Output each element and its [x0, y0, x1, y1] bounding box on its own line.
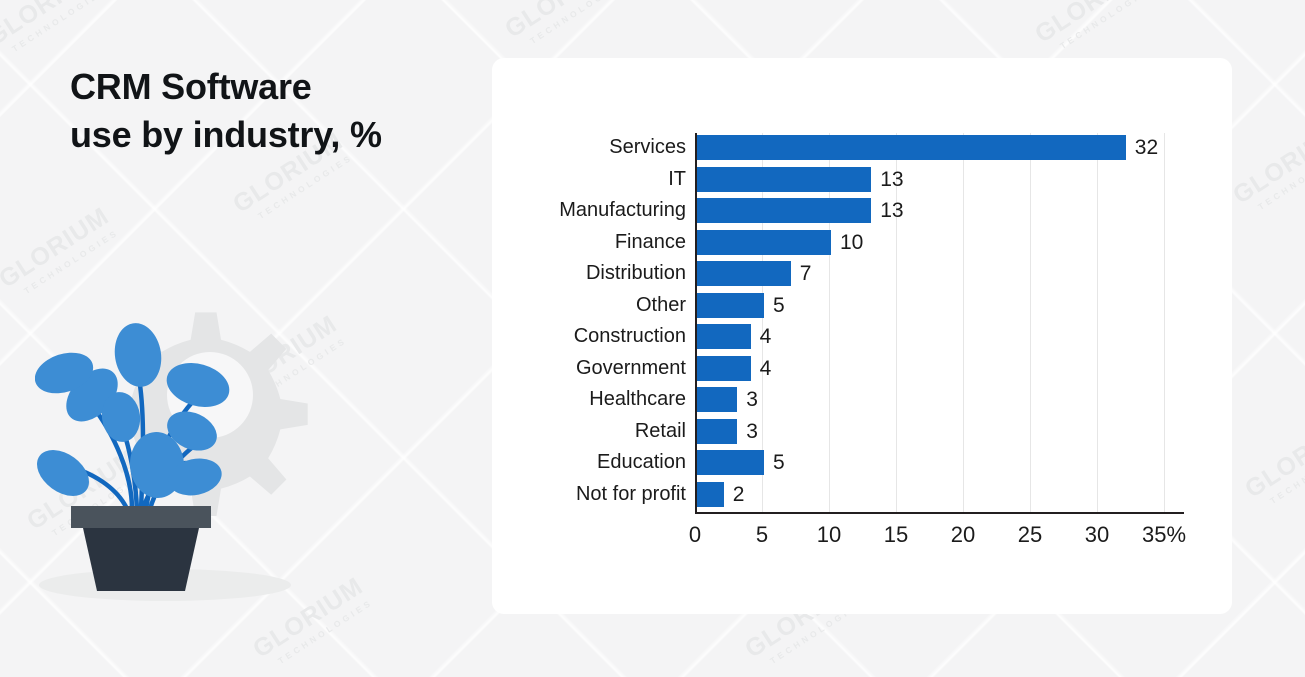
bar[interactable] [697, 198, 871, 223]
watermark-sub-text: TECHNOLOGIES [256, 152, 355, 221]
bar[interactable] [697, 450, 764, 475]
category-label: Distribution [490, 259, 686, 289]
bar-row[interactable]: 32 [697, 133, 1184, 163]
x-tick-label: 25 [1018, 522, 1042, 548]
bar-row[interactable]: 3 [697, 385, 1184, 415]
bar[interactable] [697, 293, 764, 318]
watermark-sub-text: TECHNOLOGIES [528, 0, 627, 46]
category-label: IT [490, 165, 686, 195]
watermark: GLORIUM TECHNOLOGIES [1240, 412, 1305, 514]
bar-row[interactable]: 13 [697, 196, 1184, 226]
watermark-main-text: GLORIUM [1240, 412, 1305, 505]
bar[interactable] [697, 135, 1126, 160]
watermark-main-text: GLORIUM [0, 202, 115, 295]
x-tick-label: 10 [817, 522, 841, 548]
bar-value-label: 4 [760, 358, 772, 379]
category-label: Other [490, 291, 686, 321]
bar-value-label: 4 [760, 326, 772, 347]
watermark-main-text: GLORIUM [0, 0, 103, 52]
x-axis-tick-labels: 05101520253035% [695, 522, 1184, 562]
bar-value-label: 7 [800, 263, 812, 284]
category-label: Government [490, 354, 686, 384]
watermark: GLORIUM TECHNOLOGIES [0, 0, 109, 62]
category-label: Finance [490, 228, 686, 258]
watermark-sub-text: TECHNOLOGIES [10, 0, 109, 54]
x-tick-label: 5 [756, 522, 768, 548]
watermark-main-text: GLORIUM [1030, 0, 1151, 49]
pot-body [83, 528, 199, 591]
bar-value-label: 5 [773, 295, 785, 316]
bar-value-label: 10 [840, 232, 863, 253]
bar-value-label: 13 [880, 200, 903, 221]
potted-plant-illustration [35, 285, 365, 620]
bar-value-label: 3 [746, 389, 758, 410]
x-tick-label: 15 [884, 522, 908, 548]
bar-row[interactable]: 7 [697, 259, 1184, 289]
bar-value-label: 3 [746, 421, 758, 442]
page-title-line-1: CRM Software [70, 63, 470, 111]
bar-value-label: 13 [880, 169, 903, 190]
bar-value-label: 32 [1135, 137, 1158, 158]
watermark-main-text: GLORIUM [500, 0, 621, 44]
bar-row[interactable]: 4 [697, 322, 1184, 352]
category-label: Not for profit [490, 480, 686, 510]
bar-row[interactable]: 13 [697, 165, 1184, 195]
x-tick-label: 0 [689, 522, 701, 548]
y-axis-category-labels: ServicesITManufacturingFinanceDistributi… [490, 133, 686, 511]
bar-value-label: 5 [773, 452, 785, 473]
watermark: GLORIUM TECHNOLOGIES [1030, 0, 1157, 59]
watermark: GLORIUM TECHNOLOGIES [1228, 118, 1305, 220]
bar-row[interactable]: 5 [697, 448, 1184, 478]
bar-row[interactable]: 3 [697, 417, 1184, 447]
category-label: Services [490, 133, 686, 163]
bar-chart: ServicesITManufacturingFinanceDistributi… [695, 133, 1184, 588]
x-tick-label: 35% [1142, 522, 1186, 548]
watermark: GLORIUM TECHNOLOGIES [500, 0, 627, 54]
watermark-sub-text: TECHNOLOGIES [1256, 143, 1305, 212]
x-tick-label: 30 [1085, 522, 1109, 548]
category-label: Retail [490, 417, 686, 447]
bar[interactable] [697, 230, 831, 255]
x-axis-line [695, 512, 1184, 514]
bar-series: 3213131075443352 [697, 133, 1184, 511]
watermark-main-text: GLORIUM [1228, 118, 1305, 211]
bar[interactable] [697, 167, 871, 192]
bar-value-label: 2 [733, 484, 745, 505]
category-label: Manufacturing [490, 196, 686, 226]
page-title-line-2: use by industry, % [70, 111, 470, 159]
bar[interactable] [697, 387, 737, 412]
category-label: Education [490, 448, 686, 478]
bar-row[interactable]: 4 [697, 354, 1184, 384]
pot-rim [71, 506, 211, 528]
bar-row[interactable]: 2 [697, 480, 1184, 510]
category-label: Healthcare [490, 385, 686, 415]
page-title: CRM Software use by industry, % [70, 63, 470, 159]
category-label: Construction [490, 322, 686, 352]
watermark-sub-text: TECHNOLOGIES [1058, 0, 1157, 51]
watermark-sub-text: TECHNOLOGIES [1268, 437, 1305, 506]
bar[interactable] [697, 356, 751, 381]
bar[interactable] [697, 419, 737, 444]
bar[interactable] [697, 482, 724, 507]
bar[interactable] [697, 324, 751, 349]
bar[interactable] [697, 261, 791, 286]
x-tick-label: 20 [951, 522, 975, 548]
bar-row[interactable]: 5 [697, 291, 1184, 321]
chart-card: ServicesITManufacturingFinanceDistributi… [492, 58, 1232, 614]
bar-row[interactable]: 10 [697, 228, 1184, 258]
